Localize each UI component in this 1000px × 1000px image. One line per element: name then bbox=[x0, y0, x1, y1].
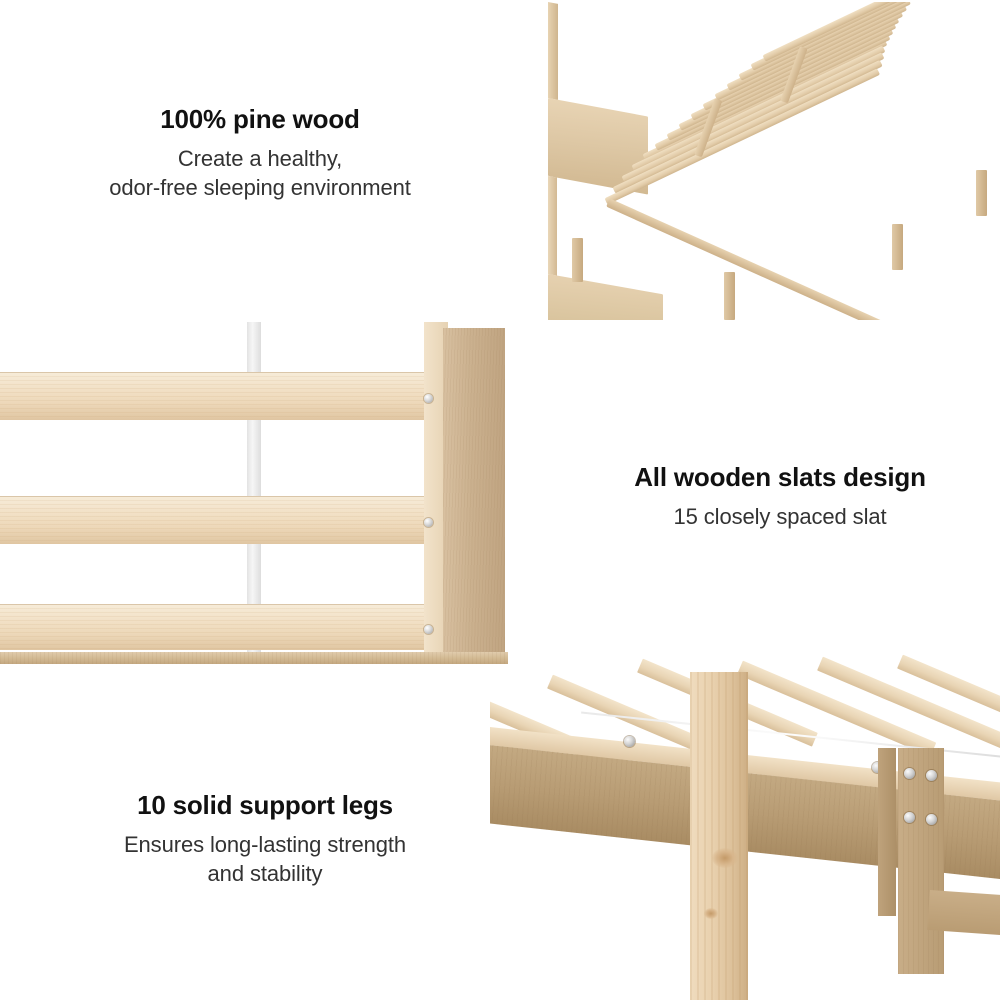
base-frame-rail bbox=[0, 652, 508, 664]
feature-heading-slats: All wooden slats design bbox=[560, 462, 1000, 493]
feature-subtitle-slats: 15 closely spaced slat bbox=[560, 502, 1000, 531]
feature-subtitle-pine-line1: Create a healthy, bbox=[0, 144, 520, 173]
corner-support-leg bbox=[898, 748, 944, 974]
infographic-canvas: 100% pine wood Create a healthy, odor-fr… bbox=[0, 0, 1000, 1000]
wood-knot bbox=[704, 908, 718, 919]
bolt-head bbox=[926, 770, 937, 781]
bolt-head bbox=[926, 814, 937, 825]
pine-slat bbox=[0, 372, 440, 420]
bed-leg-head-right bbox=[976, 170, 987, 216]
bed-frame-photo bbox=[548, 2, 1000, 320]
headboard-panel-right bbox=[548, 274, 663, 320]
headboard-post-left bbox=[548, 2, 558, 100]
wood-knot bbox=[712, 848, 738, 868]
feature-heading-pine: 100% pine wood bbox=[0, 104, 520, 135]
headboard-post-middle bbox=[548, 176, 557, 276]
feature-heading-legs: 10 solid support legs bbox=[0, 790, 530, 821]
lower-cross-rail bbox=[927, 890, 1000, 935]
bed-leg-front-left bbox=[572, 238, 583, 282]
screw-head bbox=[424, 394, 433, 403]
pine-slat bbox=[0, 604, 440, 650]
screw-head bbox=[424, 625, 433, 634]
feature-subtitle-legs-line1: Ensures long-lasting strength bbox=[0, 830, 530, 859]
screw-head bbox=[624, 736, 635, 747]
pine-slat bbox=[0, 496, 440, 544]
underside-legs-photo bbox=[490, 652, 1000, 1000]
feature-pine-wood: 100% pine wood Create a healthy, odor-fr… bbox=[0, 104, 520, 202]
feature-subtitle-pine-line2: odor-free sleeping environment bbox=[0, 173, 520, 202]
bed-side-rail bbox=[443, 328, 505, 656]
feature-subtitle-slats-line1: 15 closely spaced slat bbox=[560, 502, 1000, 531]
feature-slats-design: All wooden slats design 15 closely space… bbox=[560, 462, 1000, 531]
screw-head bbox=[424, 518, 433, 527]
feature-support-legs: 10 solid support legs Ensures long-lasti… bbox=[0, 790, 530, 888]
bolt-head bbox=[904, 812, 915, 823]
bed-leg-mid-right bbox=[892, 224, 903, 270]
feature-subtitle-legs: Ensures long-lasting strength and stabil… bbox=[0, 830, 530, 888]
feature-subtitle-pine: Create a healthy, odor-free sleeping env… bbox=[0, 144, 520, 202]
corner-leg-inner bbox=[878, 748, 896, 916]
bed-frame-illustration bbox=[548, 2, 1000, 320]
bed-leg-front-centre bbox=[724, 272, 735, 320]
slat-closeup-photo bbox=[0, 322, 508, 664]
centre-support-leg bbox=[690, 672, 748, 1000]
bolt-head bbox=[904, 768, 915, 779]
feature-subtitle-legs-line2: and stability bbox=[0, 859, 530, 888]
